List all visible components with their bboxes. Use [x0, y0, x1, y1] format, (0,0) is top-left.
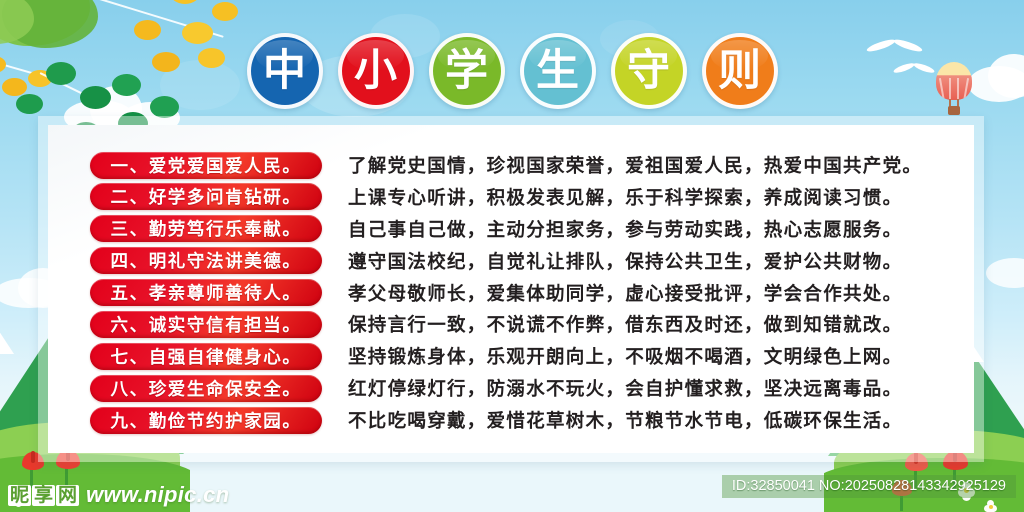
- poster-title: 中 小 学 生 守 则: [0, 33, 1024, 109]
- leaf-yellow: [170, 0, 200, 4]
- logo-glyph: 网: [56, 485, 79, 506]
- poster-canvas: 中 小 学 生 守 则 一、爱党爱国爱人民。 了解党史国情，珍视国家荣誉，爱祖国…: [0, 0, 1024, 512]
- rule-text: 遵守国法校纪，自觉礼让排队，保持公共卫生，爱护公共财物。: [348, 248, 952, 274]
- rule-row: 九、勤俭节约护家园。 不比吃喝穿戴，爱惜花草树木，节粮节水节电，低碳环保生活。: [90, 405, 952, 435]
- rule-text: 自己事自己做，主动分担家务，参与劳动实践，热心志愿服务。: [348, 216, 952, 242]
- title-char: 生: [536, 50, 579, 93]
- title-char: 中: [263, 50, 306, 93]
- rule-row: 四、明礼守法讲美德。 遵守国法校纪，自觉礼让排队，保持公共卫生，爱护公共财物。: [90, 246, 952, 276]
- rule-text: 了解党史国情，珍视国家荣誉，爱祖国爱人民，热爱中国共产党。: [348, 152, 952, 178]
- rule-tag: 一、爱党爱国爱人民。: [90, 152, 322, 179]
- title-bubble-1: 中: [247, 33, 323, 109]
- rule-tag: 四、明礼守法讲美德。: [90, 247, 322, 274]
- logo-glyph: 享: [32, 485, 55, 506]
- rule-text: 上课专心听讲，积极发表见解，乐于科学探索，养成阅读习惯。: [348, 184, 952, 210]
- rule-tag: 七、自强自律健身心。: [90, 343, 322, 370]
- title-bubble-5: 守: [611, 33, 687, 109]
- board-frame: 一、爱党爱国爱人民。 了解党史国情，珍视国家荣誉，爱祖国爱人民，热爱中国共产党。…: [38, 116, 984, 462]
- rule-text: 坚持锻炼身体，乐观开朗向上，不吸烟不喝酒，文明绿色上网。: [348, 343, 952, 369]
- leaf-yellow: [212, 2, 238, 21]
- title-char: 小: [354, 50, 397, 93]
- title-char: 守: [627, 50, 670, 93]
- rule-tag: 二、好学多问肯钻研。: [90, 183, 322, 210]
- title-bubble-2: 小: [338, 33, 414, 109]
- image-id-label: ID:32850041 NO:20250828143342925129: [722, 475, 1016, 498]
- watermark-url: www.nipic.cn: [86, 482, 229, 508]
- title-bubble-6: 则: [702, 33, 778, 109]
- footer-watermark-band: 昵 享 网 www.nipic.cn ID:32850041 NO:202508…: [0, 470, 1024, 512]
- rule-row: 三、勤劳笃行乐奉献。 自己事自己做，主动分担家务，参与劳动实践，热心志愿服务。: [90, 214, 952, 244]
- rule-row: 六、诚实守信有担当。 保持言行一致，不说谎不作弊，借东西及时还，做到知错就改。: [90, 309, 952, 339]
- rule-row: 七、自强自律健身心。 坚持锻炼身体，乐观开朗向上，不吸烟不喝酒，文明绿色上网。: [90, 341, 952, 371]
- rule-tag: 六、诚实守信有担当。: [90, 311, 322, 338]
- rule-tag: 五、孝亲尊师善待人。: [90, 279, 322, 306]
- rules-list: 一、爱党爱国爱人民。 了解党史国情，珍视国家荣誉，爱祖国爱人民，热爱中国共产党。…: [48, 125, 974, 453]
- rule-tag: 九、勤俭节约护家园。: [90, 407, 322, 434]
- nipic-logo: 昵 享 网: [8, 485, 79, 506]
- title-char: 则: [718, 50, 761, 93]
- logo-glyph: 昵: [8, 485, 31, 506]
- watermark: 昵 享 网 www.nipic.cn: [8, 482, 229, 508]
- rule-tag: 三、勤劳笃行乐奉献。: [90, 215, 322, 242]
- rule-text: 孝父母敬师长，爱集体助同学，虚心接受批评，学会合作共处。: [348, 280, 952, 306]
- rule-row: 一、爱党爱国爱人民。 了解党史国情，珍视国家荣誉，爱祖国爱人民，热爱中国共产党。: [90, 150, 952, 180]
- rule-row: 五、孝亲尊师善待人。 孝父母敬师长，爱集体助同学，虚心接受批评，学会合作共处。: [90, 278, 952, 308]
- board-panel: 一、爱党爱国爱人民。 了解党史国情，珍视国家荣誉，爱祖国爱人民，热爱中国共产党。…: [48, 125, 974, 453]
- title-bubble-4: 生: [520, 33, 596, 109]
- rule-text: 不比吃喝穿戴，爱惜花草树木，节粮节水节电，低碳环保生活。: [348, 407, 952, 433]
- rule-row: 八、珍爱生命保安全。 红灯停绿灯行，防溺水不玩火，会自护懂求救，坚决远离毒品。: [90, 373, 952, 403]
- title-bubble-3: 学: [429, 33, 505, 109]
- rule-row: 二、好学多问肯钻研。 上课专心听讲，积极发表见解，乐于科学探索，养成阅读习惯。: [90, 182, 952, 212]
- title-char: 学: [445, 50, 488, 93]
- rule-tag: 八、珍爱生命保安全。: [90, 375, 322, 402]
- rule-text: 保持言行一致，不说谎不作弊，借东西及时还，做到知错就改。: [348, 311, 952, 337]
- rule-text: 红灯停绿灯行，防溺水不玩火，会自护懂求救，坚决远离毒品。: [348, 375, 952, 401]
